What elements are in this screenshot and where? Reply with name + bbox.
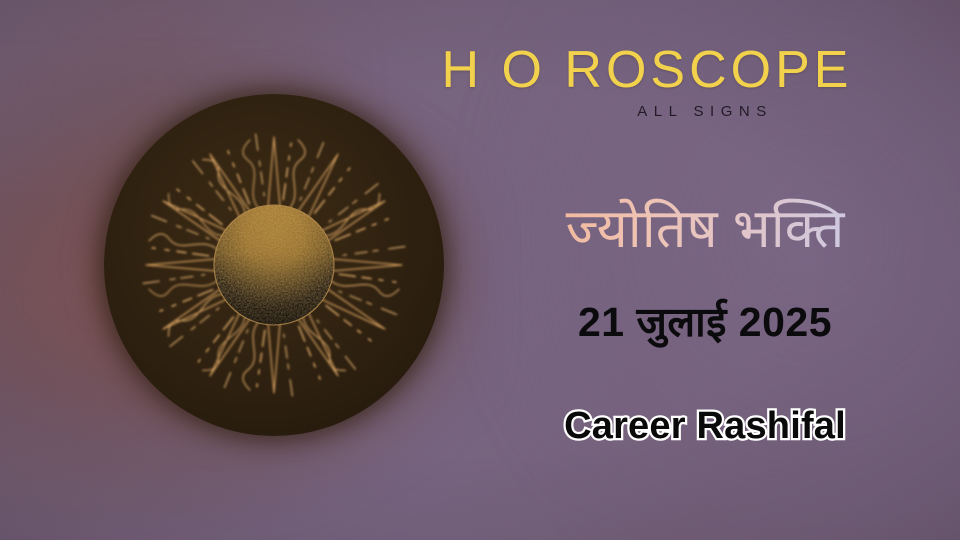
sun-core [214, 205, 334, 325]
brand-block: H O ROSCOPE ALL SIGNS [408, 44, 886, 120]
sun-emblem [104, 94, 444, 436]
poster-canvas: H O ROSCOPE ALL SIGNS ज्योतिष भक्ति 21 ज… [0, 0, 960, 540]
sun-rays-icon [104, 94, 444, 436]
headline-text: Career Rashifal [470, 404, 940, 450]
date-text: 21 जुलाई 2025 [470, 298, 940, 347]
brand-subtitle: ALL SIGNS [524, 103, 886, 120]
publication-name: ज्योतिष भक्ति [470, 196, 940, 264]
brand-title: H O ROSCOPE [408, 44, 886, 97]
